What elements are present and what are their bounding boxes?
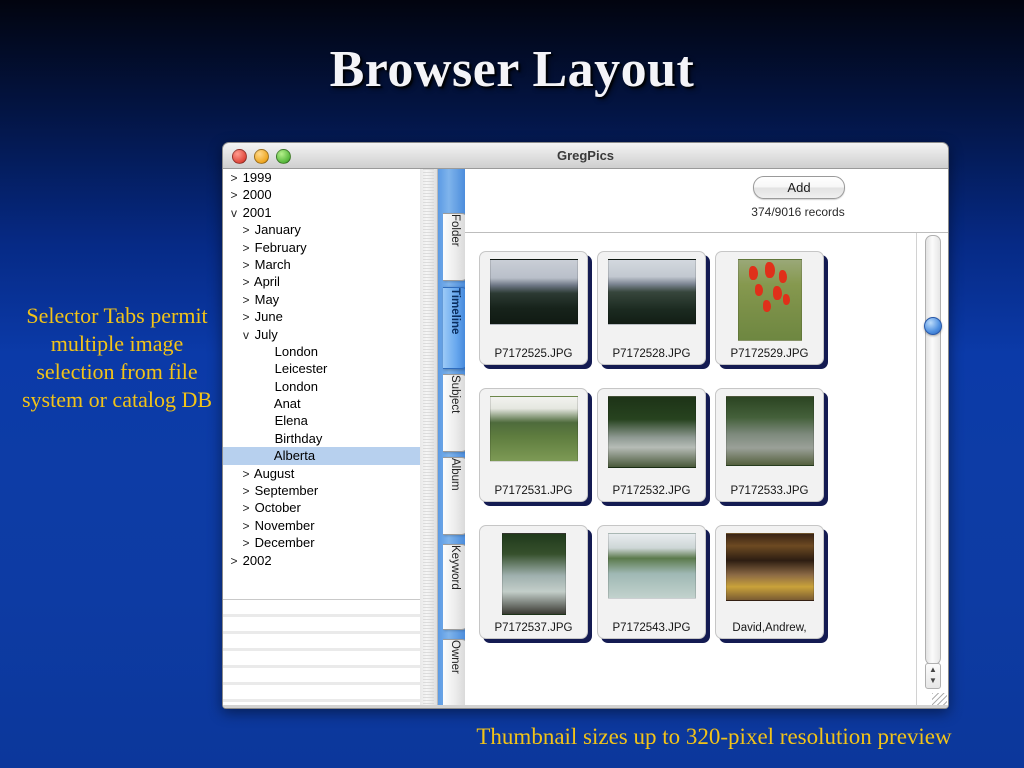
thumbnail-grid: P7172525.JPGP7172528.JPGP7172529.JPGP717…: [479, 251, 917, 662]
disclosure-closed-icon[interactable]: >: [241, 535, 251, 551]
tree-scrollbar[interactable]: [420, 169, 438, 709]
thumbnail-image: [726, 533, 814, 601]
thumbnail-item[interactable]: P7172537.JPG: [479, 525, 588, 639]
thumbnail-item[interactable]: P7172531.JPG: [479, 388, 588, 502]
tree-item-label: London: [275, 379, 318, 394]
tree-item[interactable]: > 2002: [223, 552, 420, 569]
window-titlebar[interactable]: GregPics: [223, 143, 948, 169]
thumbnail-caption: P7172533.JPG: [716, 485, 823, 497]
thumbnail-image: [738, 259, 802, 341]
disclosure-open-icon[interactable]: v: [241, 327, 251, 343]
tree-item[interactable]: > October: [223, 499, 420, 516]
page-title: Browser Layout: [0, 40, 1024, 99]
tree-item-label: March: [255, 257, 291, 272]
tree-item-label: Birthday: [275, 431, 323, 446]
disclosure-closed-icon[interactable]: >: [241, 274, 251, 290]
thumbnail-image: [502, 533, 566, 615]
tree-item[interactable]: Alberta: [223, 447, 420, 464]
thumbnail-caption: P7172543.JPG: [598, 622, 705, 634]
tree-item[interactable]: > August: [223, 465, 420, 482]
disclosure-closed-icon[interactable]: >: [241, 222, 251, 238]
application-window: GregPics > 1999> 2000v 2001> January> Fe…: [222, 142, 949, 709]
disclosure-closed-icon[interactable]: >: [241, 257, 251, 273]
tree-item[interactable]: v 2001: [223, 204, 420, 221]
content-pane: Add 374/9016 records Sort by Date ▲ ▼ Re…: [465, 169, 948, 709]
thumbnail-caption: P7172532.JPG: [598, 485, 705, 497]
tree-item[interactable]: > 1999: [223, 169, 420, 186]
thumbnail-image: [490, 259, 578, 325]
thumbnail-image: [608, 259, 696, 325]
thumbnail-item[interactable]: P7172525.JPG: [479, 251, 588, 365]
thumbnail-caption: David,Andrew,: [716, 622, 823, 634]
disclosure-closed-icon[interactable]: >: [229, 187, 239, 203]
tree-item-label: Alberta: [274, 448, 315, 463]
add-button[interactable]: Add: [753, 176, 845, 199]
disclosure-closed-icon[interactable]: >: [241, 466, 251, 482]
flower-petal: [779, 270, 787, 283]
flower-petal: [765, 262, 775, 278]
annotation-left: Selector Tabs permit multiple image sele…: [14, 302, 220, 415]
tree-item-label: June: [255, 309, 283, 324]
disclosure-open-icon[interactable]: v: [229, 205, 239, 221]
flower-petal: [749, 266, 758, 280]
selector-tab-label: Timeline: [443, 288, 467, 334]
folder-tree-list: > 1999> 2000v 2001> January> February> M…: [223, 169, 420, 569]
tree-item-label: April: [254, 274, 280, 289]
tree-item-label: July: [255, 327, 278, 342]
selector-tab-label: Album: [443, 458, 467, 491]
thumbnail-item[interactable]: P7172529.JPG: [715, 251, 824, 365]
thumbnail-caption: P7172537.JPG: [480, 622, 587, 634]
tree-item-label: May: [255, 292, 280, 307]
tree-item-label: January: [255, 222, 301, 237]
thumbnail-item[interactable]: P7172532.JPG: [597, 388, 706, 502]
thumbnail-image: [608, 533, 696, 599]
tree-item[interactable]: > March: [223, 256, 420, 273]
disclosure-closed-icon[interactable]: >: [241, 292, 251, 308]
annotation-bottom: Thumbnail sizes up to 320-pixel resoluti…: [404, 722, 1024, 751]
tree-empty-stripes: [223, 599, 420, 709]
thumbnail-item[interactable]: P7172533.JPG: [715, 388, 824, 502]
tree-item[interactable]: London: [223, 378, 420, 395]
tree-item[interactable]: > 2000: [223, 186, 420, 203]
scrollbar-arrows[interactable]: ▲ ▼: [925, 663, 941, 689]
window-footer: [223, 705, 948, 709]
tree-item-label: Anat: [274, 396, 301, 411]
tree-item[interactable]: > November: [223, 517, 420, 534]
tree-item[interactable]: Birthday: [223, 430, 420, 447]
flower-petal: [763, 300, 771, 312]
tree-item-label: November: [255, 518, 315, 533]
tree-item[interactable]: > June: [223, 308, 420, 325]
tree-item-label: 2002: [243, 553, 272, 568]
selector-tab-label: Owner: [443, 640, 467, 674]
thumbnail-image: [608, 396, 696, 468]
records-count-label: 374/9016 records: [723, 205, 873, 219]
thumbnail-caption: P7172528.JPG: [598, 348, 705, 360]
disclosure-closed-icon[interactable]: >: [241, 483, 251, 499]
thumbnail-item[interactable]: David,Andrew,: [715, 525, 824, 639]
disclosure-closed-icon[interactable]: >: [241, 500, 251, 516]
thumbnail-item[interactable]: P7172543.JPG: [597, 525, 706, 639]
tree-item-label: February: [255, 240, 307, 255]
selector-tab-label: Folder: [443, 214, 467, 247]
tree-item-label: August: [254, 466, 294, 481]
disclosure-closed-icon[interactable]: >: [229, 170, 239, 186]
scroll-down-arrow-icon[interactable]: ▼: [926, 675, 940, 686]
tree-item-label: London: [275, 344, 318, 359]
tree-item-label: Leicester: [275, 361, 328, 376]
tree-item[interactable]: > January: [223, 221, 420, 238]
disclosure-closed-icon[interactable]: >: [241, 309, 251, 325]
tree-item[interactable]: v July: [223, 326, 420, 343]
thumbnail-image: [490, 396, 578, 462]
flower-petal: [755, 284, 763, 296]
tree-item[interactable]: > December: [223, 534, 420, 551]
tree-item[interactable]: Anat: [223, 395, 420, 412]
flower-petal: [773, 286, 782, 300]
tree-item[interactable]: > September: [223, 482, 420, 499]
tree-item[interactable]: > May: [223, 291, 420, 308]
tree-item-label: September: [255, 483, 319, 498]
thumbnail-grid-area[interactable]: P7172525.JPGP7172528.JPGP7172529.JPGP717…: [465, 233, 917, 709]
tree-item[interactable]: Elena: [223, 412, 420, 429]
content-scrollbar[interactable]: ▲ ▼: [916, 233, 948, 709]
window-title: GregPics: [223, 143, 948, 168]
tree-item[interactable]: Leicester: [223, 360, 420, 377]
disclosure-closed-icon[interactable]: >: [241, 518, 251, 534]
disclosure-closed-icon[interactable]: >: [229, 553, 239, 569]
content-toolbar: Add 374/9016 records Sort by Date ▲ ▼ Re…: [465, 169, 948, 233]
folder-tree-panel[interactable]: > 1999> 2000v 2001> January> February> M…: [223, 169, 421, 709]
tree-scrollbar-track: [423, 169, 434, 709]
tree-item-label: Elena: [275, 413, 308, 428]
thumbnail-caption: P7172529.JPG: [716, 348, 823, 360]
scroll-up-arrow-icon[interactable]: ▲: [926, 664, 940, 675]
tree-item-label: 2001: [243, 205, 272, 220]
tree-item-label: 2000: [243, 187, 272, 202]
disclosure-closed-icon[interactable]: >: [241, 240, 251, 256]
selector-tab-label: Keyword: [443, 545, 467, 590]
scrollbar-track[interactable]: [925, 235, 941, 665]
tree-item-label: December: [255, 535, 315, 550]
thumbnail-image: [726, 396, 814, 466]
flower-petal: [783, 294, 790, 305]
selector-tab-strip: FolderTimelineSubjectAlbumKeywordOwner: [438, 169, 465, 709]
slide-canvas: Browser Layout Selector Tabs permit mult…: [0, 0, 1024, 768]
tree-item[interactable]: > February: [223, 239, 420, 256]
selector-tab-label: Subject: [443, 375, 467, 413]
window-body: > 1999> 2000v 2001> January> February> M…: [223, 169, 948, 709]
thumbnail-caption: P7172525.JPG: [480, 348, 587, 360]
tree-item-label: October: [255, 500, 301, 515]
thumbnail-item[interactable]: P7172528.JPG: [597, 251, 706, 365]
thumbnail-caption: P7172531.JPG: [480, 485, 587, 497]
tree-item[interactable]: > April: [223, 273, 420, 290]
scrollbar-thumb[interactable]: [924, 317, 942, 335]
tree-item[interactable]: London: [223, 343, 420, 360]
tree-item-label: 1999: [243, 170, 272, 185]
